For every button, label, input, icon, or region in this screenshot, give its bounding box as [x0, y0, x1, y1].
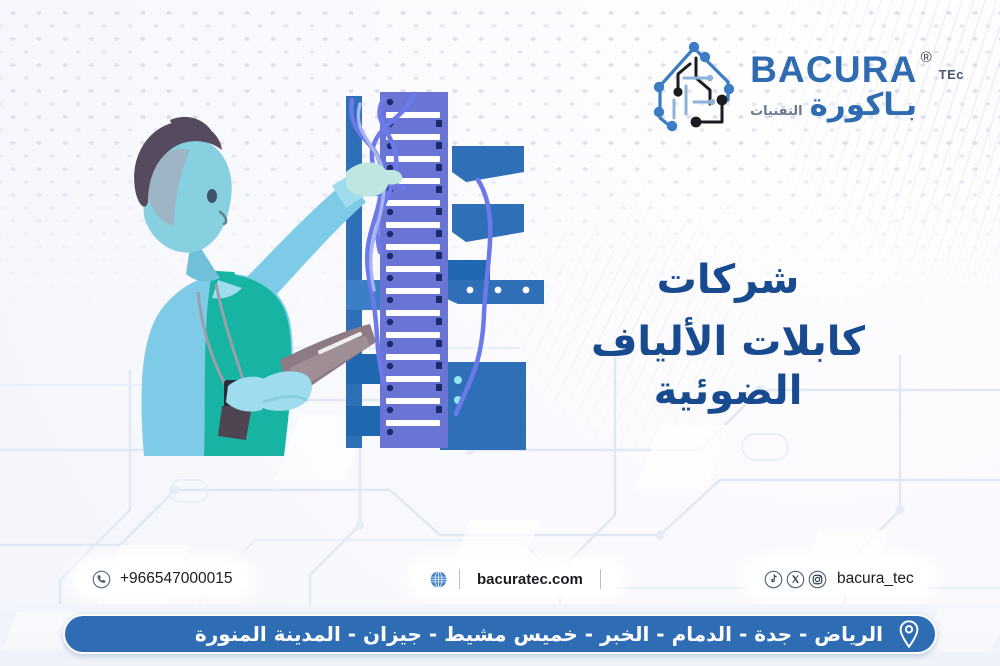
- logo-tagline-arabic: التقنيات: [750, 104, 803, 119]
- logo-wordmark-suffix: TEc: [939, 67, 964, 82]
- contact-chip-row: +966547000015 bacuratec.com: [0, 562, 1000, 604]
- globe-icon: [429, 570, 448, 589]
- locations-bar[interactable]: الرياض - جدة - الدمام - الخبر - خميس مشي…: [63, 614, 937, 654]
- registered-trademark-icon: ®: [921, 49, 932, 66]
- social-chip[interactable]: bacura_tec: [748, 562, 930, 596]
- phone-icon: [92, 570, 111, 589]
- phone-number: +966547000015: [120, 570, 233, 588]
- headline-line-2: كابلات الألياف الضوئية: [528, 318, 928, 417]
- instagram-icon[interactable]: [808, 570, 827, 589]
- tiktok-icon[interactable]: [764, 570, 783, 589]
- location-pin-icon: [897, 620, 921, 648]
- technician-server-rack-illustration: [84, 84, 554, 456]
- page-title: شركات كابلات الألياف الضوئية: [528, 256, 928, 417]
- logo-wordmark-arabic: بـاكورة: [810, 90, 918, 121]
- website-chip[interactable]: bacuratec.com: [413, 562, 619, 596]
- social-handle: bacura_tec: [837, 570, 914, 588]
- headline-line-1: شركات: [528, 256, 928, 306]
- circuit-house-icon: [648, 34, 744, 138]
- brand-logo[interactable]: BACURA ® TEc بـاكورة التقنيات: [648, 34, 964, 138]
- phone-chip[interactable]: +966547000015: [76, 562, 249, 596]
- website-url: bacuratec.com: [477, 571, 583, 588]
- poster-canvas: BACURA ® TEc بـاكورة التقنيات شركات كابل…: [0, 0, 1000, 666]
- chip-divider: [459, 569, 460, 589]
- logo-wordmark: BACURA: [750, 51, 918, 88]
- cities-list: الرياض - جدة - الدمام - الخبر - خميس مشي…: [87, 624, 887, 644]
- chip-divider-right: [600, 569, 601, 589]
- x-icon[interactable]: [786, 570, 805, 589]
